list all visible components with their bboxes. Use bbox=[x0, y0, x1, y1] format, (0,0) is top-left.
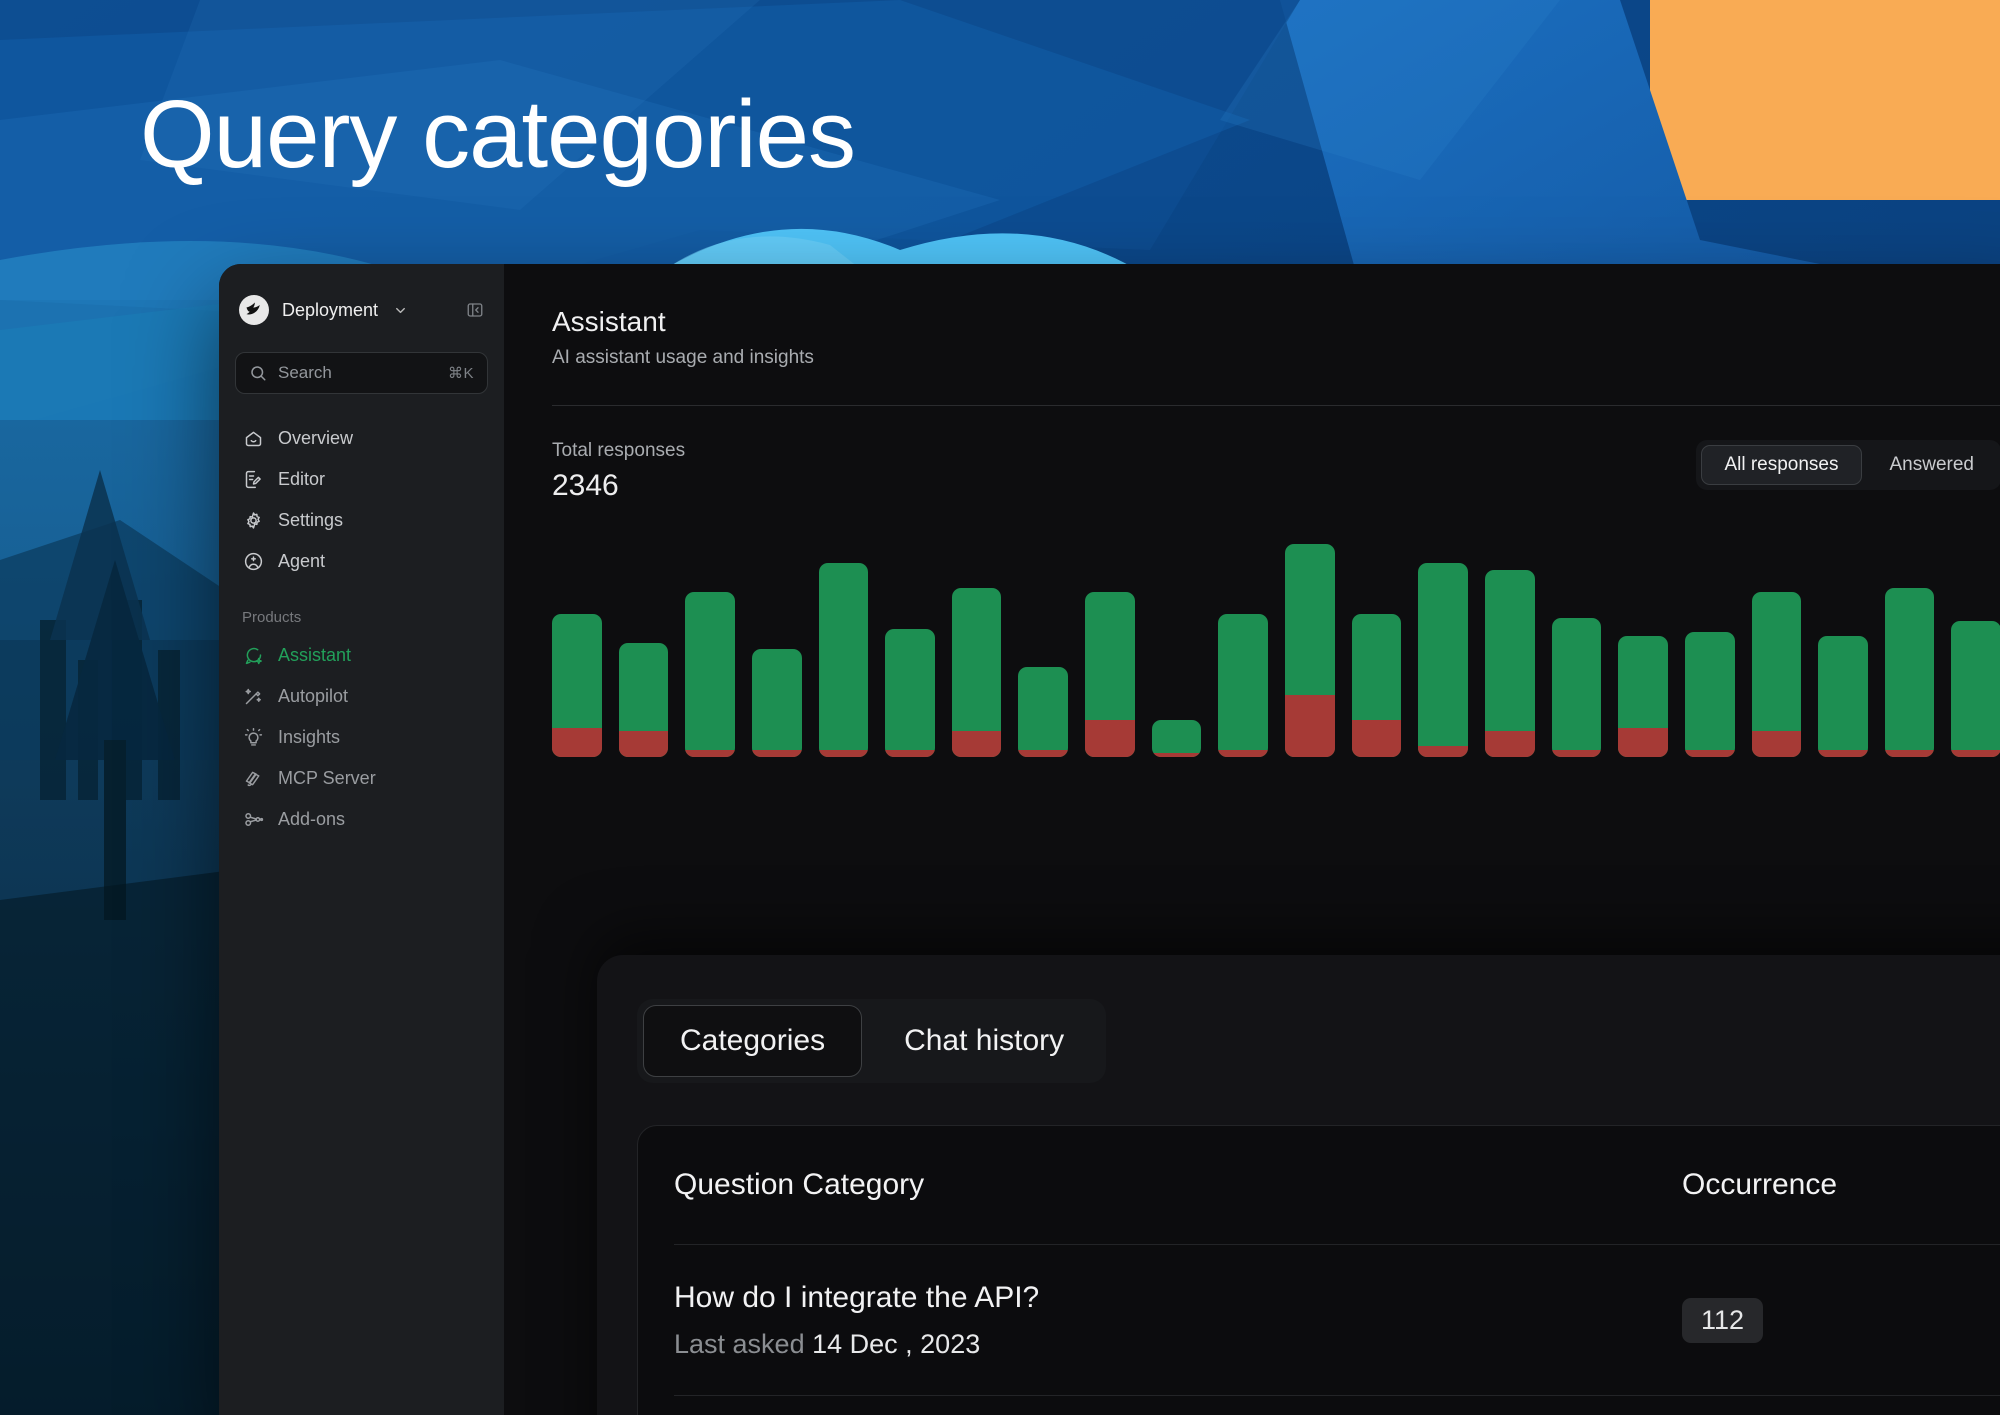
layers-icon bbox=[242, 768, 264, 790]
sidebar-item-editor[interactable]: Editor bbox=[235, 459, 488, 500]
collapse-panel-icon[interactable] bbox=[466, 301, 484, 319]
search-icon bbox=[249, 364, 267, 382]
chart-bar[interactable] bbox=[685, 592, 735, 757]
agent-avatar-icon bbox=[242, 551, 264, 573]
page-subtitle: AI assistant usage and insights bbox=[552, 347, 2000, 369]
workspace-switcher[interactable]: Deployment bbox=[235, 286, 488, 330]
tab-chat-history[interactable]: Chat history bbox=[868, 1005, 1100, 1077]
chart-bar-unanswered-segment bbox=[552, 728, 602, 757]
chart-bar-unanswered-segment bbox=[952, 731, 1002, 757]
chart-bar-unanswered-segment bbox=[1285, 695, 1335, 757]
sidebar-item-insights[interactable]: Insights bbox=[235, 717, 488, 758]
chart-bar[interactable] bbox=[819, 563, 869, 757]
question-cell: How do I integrate the API? Last asked 1… bbox=[674, 1281, 1682, 1360]
sidebar-item-autopilot[interactable]: Autopilot bbox=[235, 676, 488, 717]
document-edit-icon bbox=[242, 469, 264, 491]
home-icon bbox=[242, 428, 264, 450]
chart-bar-unanswered-segment bbox=[1352, 720, 1402, 757]
chart-bar[interactable] bbox=[1818, 636, 1868, 757]
stats-row: Total responses 2346 All responses Answe… bbox=[552, 440, 2000, 503]
search-shortcut-hint: ⌘K bbox=[448, 364, 474, 382]
chat-sparkle-icon bbox=[242, 645, 264, 667]
chart-bar[interactable] bbox=[1752, 592, 1802, 757]
chart-bar-unanswered-segment bbox=[819, 750, 869, 757]
occurrence-cell: 112 bbox=[1682, 1298, 2000, 1343]
table-row[interactable]: How do I integrate the API? Last asked 1… bbox=[674, 1245, 2000, 1395]
categories-table: Question Category Occurrence How do I in… bbox=[637, 1125, 2000, 1415]
chart-bar[interactable] bbox=[885, 629, 935, 757]
chart-bar-unanswered-segment bbox=[1685, 750, 1735, 757]
chart-bar-unanswered-segment bbox=[1818, 750, 1868, 757]
chart-bar-unanswered-segment bbox=[1752, 731, 1802, 757]
chart-bar-unanswered-segment bbox=[1951, 750, 2000, 757]
question-title: How do I integrate the API? bbox=[674, 1281, 1682, 1315]
filter-all-responses[interactable]: All responses bbox=[1701, 445, 1861, 485]
tab-categories[interactable]: Categories bbox=[643, 1005, 862, 1077]
chart-bar-unanswered-segment bbox=[1152, 753, 1202, 757]
sidebar-item-mcp-server[interactable]: MCP Server bbox=[235, 758, 488, 799]
search-placeholder: Search bbox=[278, 363, 437, 383]
column-header-occurrence: Occurrence bbox=[1682, 1168, 2000, 1202]
sidebar-item-label: MCP Server bbox=[278, 768, 376, 789]
header-divider bbox=[552, 405, 2000, 406]
chart-bar-unanswered-segment bbox=[1218, 750, 1268, 757]
chart-bar-unanswered-segment bbox=[752, 750, 802, 757]
sidebar-item-agent[interactable]: Agent bbox=[235, 541, 488, 582]
sidebar-item-label: Insights bbox=[278, 727, 340, 748]
sidebar-item-settings[interactable]: Settings bbox=[235, 500, 488, 541]
primary-nav: Overview Editor Settings Agent bbox=[235, 418, 488, 582]
chart-bar-unanswered-segment bbox=[685, 750, 735, 757]
nodes-icon bbox=[242, 809, 264, 831]
last-asked-label: Last asked bbox=[674, 1329, 805, 1359]
chart-bar[interactable] bbox=[1885, 588, 1935, 757]
chart-bar-unanswered-segment bbox=[885, 750, 935, 757]
chart-bar-unanswered-segment bbox=[1418, 746, 1468, 757]
chart-bar[interactable] bbox=[1618, 636, 1668, 757]
chart-bar-unanswered-segment bbox=[1618, 728, 1668, 757]
sidebar-item-label: Overview bbox=[278, 428, 353, 449]
table-divider bbox=[674, 1395, 2000, 1396]
chart-bar-unanswered-segment bbox=[619, 731, 669, 757]
app-window: Deployment Search ⌘K Overview bbox=[219, 264, 2000, 1415]
response-filter-group: All responses Answered bbox=[1696, 440, 2000, 490]
chart-bar[interactable] bbox=[619, 643, 669, 757]
page-title: Assistant bbox=[552, 306, 2000, 338]
chart-bar-unanswered-segment bbox=[1485, 731, 1535, 757]
chart-bar-unanswered-segment bbox=[1085, 720, 1135, 757]
sidebar-item-label: Add-ons bbox=[278, 809, 345, 830]
column-header-question-category: Question Category bbox=[674, 1168, 1682, 1202]
workspace-name: Deployment bbox=[282, 300, 378, 321]
chart-bar[interactable] bbox=[1951, 621, 2000, 757]
chart-bar[interactable] bbox=[1485, 570, 1535, 757]
filter-answered[interactable]: Answered bbox=[1868, 445, 1997, 485]
chart-bar[interactable] bbox=[1085, 592, 1135, 757]
sidebar-item-assistant[interactable]: Assistant bbox=[235, 635, 488, 676]
sidebar-item-label: Assistant bbox=[278, 645, 351, 666]
chart-bar[interactable] bbox=[752, 649, 802, 757]
total-responses-stat: Total responses 2346 bbox=[552, 440, 685, 503]
sidebar-item-overview[interactable]: Overview bbox=[235, 418, 488, 459]
chart-bar[interactable] bbox=[1152, 720, 1202, 757]
bird-logo-icon bbox=[239, 295, 269, 325]
stat-label: Total responses bbox=[552, 440, 685, 462]
products-nav: Assistant Autopilot Insights MCP Server bbox=[235, 635, 488, 840]
sidebar-item-label: Editor bbox=[278, 469, 325, 490]
chart-bar-unanswered-segment bbox=[1885, 750, 1935, 757]
chart-bar-unanswered-segment bbox=[1552, 750, 1602, 757]
chevron-down-icon[interactable] bbox=[393, 303, 408, 318]
sidebar-item-label: Settings bbox=[278, 510, 343, 531]
chart-bar-unanswered-segment bbox=[1018, 750, 1068, 757]
chart-bar[interactable] bbox=[1352, 614, 1402, 757]
chart-bar[interactable] bbox=[1418, 563, 1468, 757]
chart-bar[interactable] bbox=[1552, 618, 1602, 757]
last-asked-date: 14 Dec , 2023 bbox=[812, 1329, 980, 1359]
occurrence-badge: 112 bbox=[1682, 1298, 1763, 1343]
chart-bar[interactable] bbox=[952, 588, 1002, 757]
chart-bar[interactable] bbox=[1685, 632, 1735, 757]
sidebar-item-label: Autopilot bbox=[278, 686, 348, 707]
lightbulb-icon bbox=[242, 727, 264, 749]
stat-value: 2346 bbox=[552, 469, 685, 503]
panel-tabs: Categories Chat history bbox=[637, 999, 1106, 1083]
search-input[interactable]: Search ⌘K bbox=[235, 352, 488, 394]
chart-bar[interactable] bbox=[552, 614, 602, 757]
responses-bar-chart bbox=[552, 537, 2000, 757]
gear-icon bbox=[242, 510, 264, 532]
table-header-row: Question Category Occurrence bbox=[674, 1126, 2000, 1244]
chart-bar[interactable] bbox=[1285, 544, 1335, 757]
sidebar-section-products: Products bbox=[235, 609, 488, 626]
magic-wand-icon bbox=[242, 686, 264, 708]
question-meta: Last asked 14 Dec , 2023 bbox=[674, 1329, 1682, 1360]
categories-panel: Categories Chat history Question Categor… bbox=[597, 955, 2000, 1415]
sidebar-item-add-ons[interactable]: Add-ons bbox=[235, 799, 488, 840]
sidebar: Deployment Search ⌘K Overview bbox=[219, 264, 504, 1415]
chart-bar[interactable] bbox=[1018, 667, 1068, 757]
hero-title: Query categories bbox=[140, 82, 855, 188]
chart-bar[interactable] bbox=[1218, 614, 1268, 757]
sidebar-item-label: Agent bbox=[278, 551, 325, 572]
